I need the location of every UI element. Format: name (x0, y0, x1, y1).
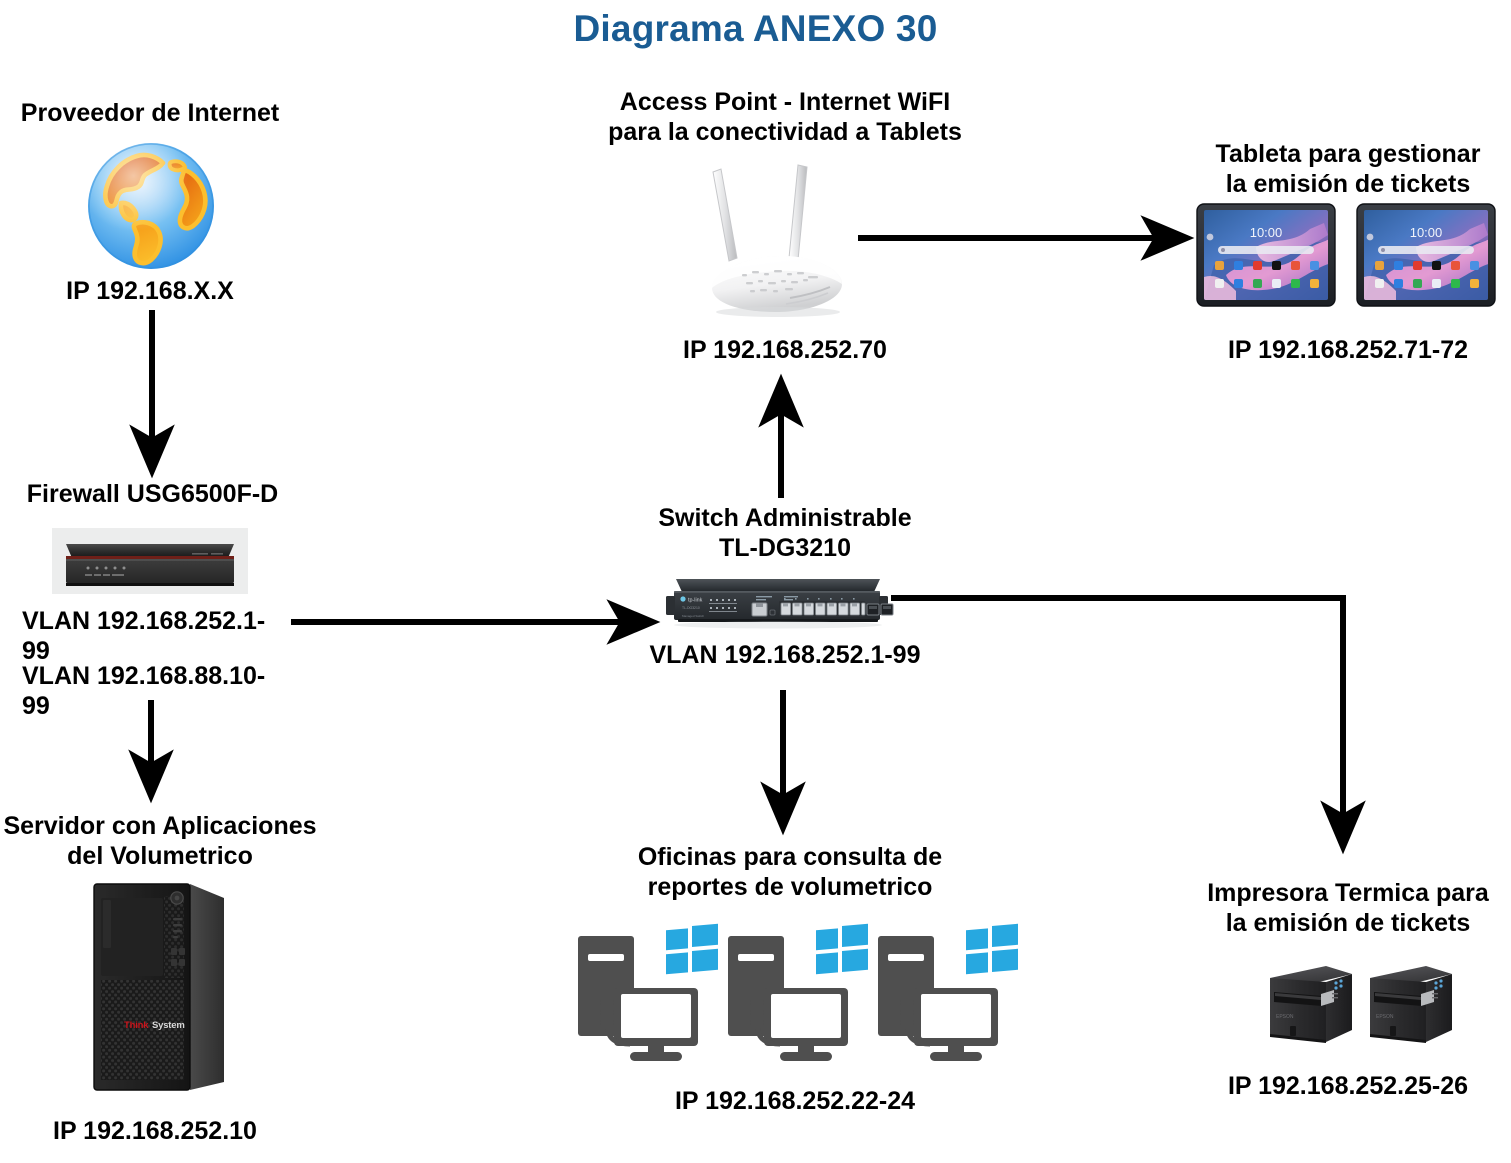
printers-label: Impresora Termica para la emisión de tic… (1185, 879, 1511, 938)
network-switch-icon: tp-link TL-DG3210 Managed Switch (660, 572, 895, 634)
firewall-vlan-secondary-label: VLAN 192.168.88.10-99 (0, 662, 290, 721)
access-point-label: Access Point - Internet WiFI para la con… (560, 88, 1010, 147)
server-label: Servidor con Aplicaciones del Volumetric… (0, 812, 320, 871)
globe-icon (85, 140, 217, 272)
switch-label: Switch Administrable TL-DG3210 (625, 504, 945, 563)
offices-ip-label: IP 192.168.252.22-24 (600, 1087, 990, 1117)
diagram-canvas: Diagrama ANEXO 30 (0, 0, 1511, 1163)
tablets-label: Tableta para gestionar la emisión de tic… (1185, 140, 1511, 199)
printers-ip-label: IP 192.168.252.25-26 (1185, 1072, 1511, 1102)
firewall-label: Firewall USG6500F-D (0, 480, 305, 510)
svg-text:System: System (152, 1020, 185, 1031)
server-ip-label: IP 192.168.252.10 (0, 1117, 310, 1147)
tablets-ip-label: IP 192.168.252.71-72 (1185, 336, 1511, 366)
thermal-printer-icon (1370, 966, 1452, 1043)
svg-text:Managed Switch: Managed Switch (682, 614, 705, 618)
access-point-ip-label: IP 192.168.252.70 (600, 336, 970, 366)
connector-switch-to-printers (891, 598, 1343, 846)
firewall-appliance-icon (52, 528, 248, 594)
offices-label: Oficinas para consulta de reportes de vo… (595, 843, 985, 902)
desktop-pc-group (578, 924, 1002, 1056)
tablet-icon: 10:00 (1197, 204, 1335, 306)
page-title: Diagrama ANEXO 30 (0, 8, 1511, 50)
svg-text:10:00: 10:00 (1410, 225, 1443, 240)
tablet-group: 10:00 (1196, 203, 1496, 316)
firewall-vlan-primary-label: VLAN 192.168.252.1-99 (0, 607, 290, 666)
svg-text:tp-link: tp-link (688, 598, 703, 604)
tower-server-icon: Think System (84, 876, 232, 1098)
switch-vlan-label: VLAN 192.168.252.1-99 (625, 641, 945, 671)
printer-group: EPSON (1264, 948, 1464, 1058)
isp-label: Proveedor de Internet (0, 99, 300, 129)
desktop-pc-windows-icon (578, 924, 718, 1061)
thermal-printer-icon (1270, 966, 1352, 1043)
svg-text:Think: Think (124, 1020, 149, 1031)
svg-text:TL-DG3210: TL-DG3210 (682, 606, 700, 610)
isp-ip-label: IP 192.168.X.X (0, 277, 300, 307)
desktop-pc-windows-icon (728, 924, 868, 1061)
tablet-icon: 10:00 (1357, 204, 1495, 306)
svg-text:10:00: 10:00 (1250, 225, 1283, 240)
desktop-pc-windows-icon (878, 924, 1018, 1061)
wireless-access-point-icon (690, 160, 870, 325)
